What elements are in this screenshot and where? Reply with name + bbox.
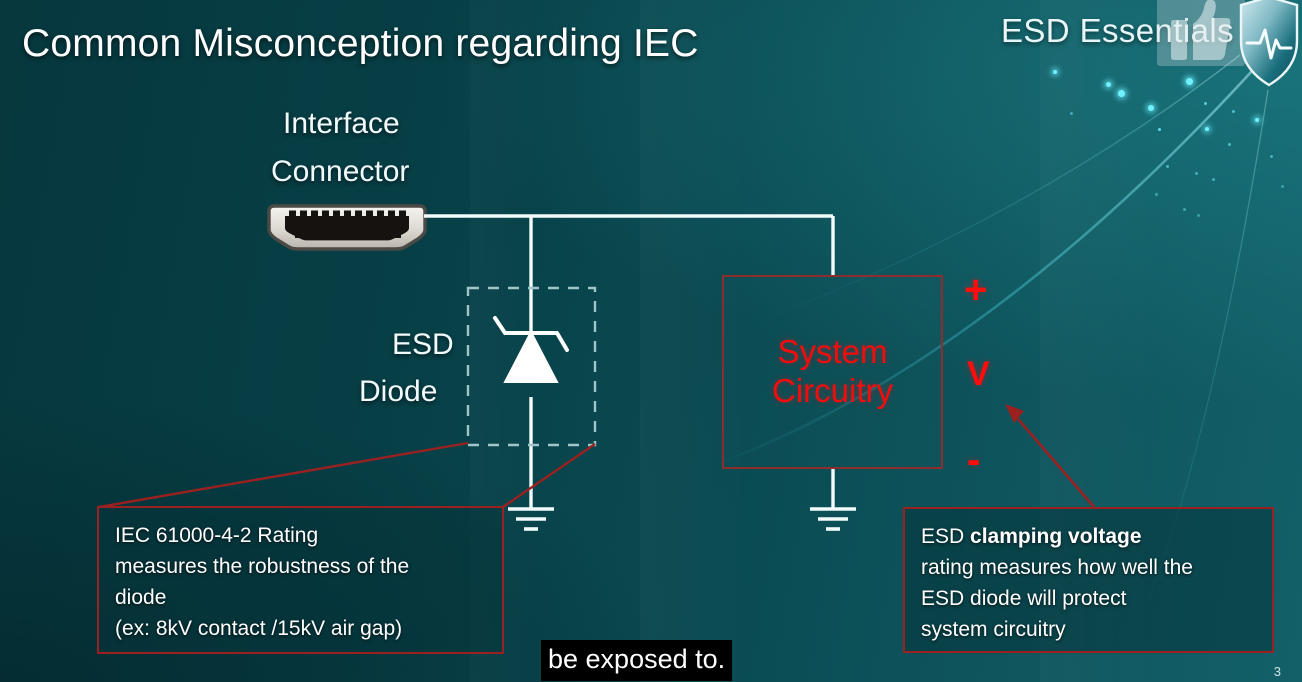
left-callout-box: IEC 61000-4-2 Rating measures the robust… — [97, 506, 504, 654]
subtitle-caption: be exposed to. — [541, 640, 732, 681]
left-callout-leader-lines — [99, 443, 595, 507]
ground-symbol-left — [508, 509, 554, 529]
right-callout-line2: rating measures how well the — [921, 552, 1258, 583]
right-callout-line1: ESD clamping voltage — [921, 521, 1258, 552]
page-number: 3 — [1274, 664, 1281, 679]
ground-symbol-right — [810, 509, 856, 529]
right-callout-bold-term: clamping voltage — [970, 525, 1142, 548]
left-callout-line1: IEC 61000-4-2 Rating — [115, 520, 488, 551]
left-callout-line3: diode — [115, 582, 488, 613]
right-callout-line3: ESD diode will protect — [921, 583, 1258, 614]
voltage-plus-label: + — [964, 268, 987, 313]
system-circuitry-block: System Circuitry — [722, 275, 943, 469]
left-callout-line4: (ex: 8kV contact /15kV air gap) — [115, 613, 488, 644]
right-callout-prefix: ESD — [921, 525, 970, 548]
right-callout-arrow — [1005, 404, 1094, 507]
slide-canvas: Common Misconception regarding IEC ESD E… — [0, 0, 1302, 682]
voltage-symbol-label: V — [967, 355, 990, 394]
right-callout-line4: system circuitry — [921, 614, 1258, 645]
system-circuitry-line1: System — [777, 333, 887, 372]
system-circuitry-line2: Circuitry — [772, 372, 893, 411]
left-callout-line2: measures the robustness of the — [115, 551, 488, 582]
right-callout-box: ESD clamping voltage rating measures how… — [903, 507, 1274, 653]
voltage-minus-label: - — [967, 438, 980, 483]
